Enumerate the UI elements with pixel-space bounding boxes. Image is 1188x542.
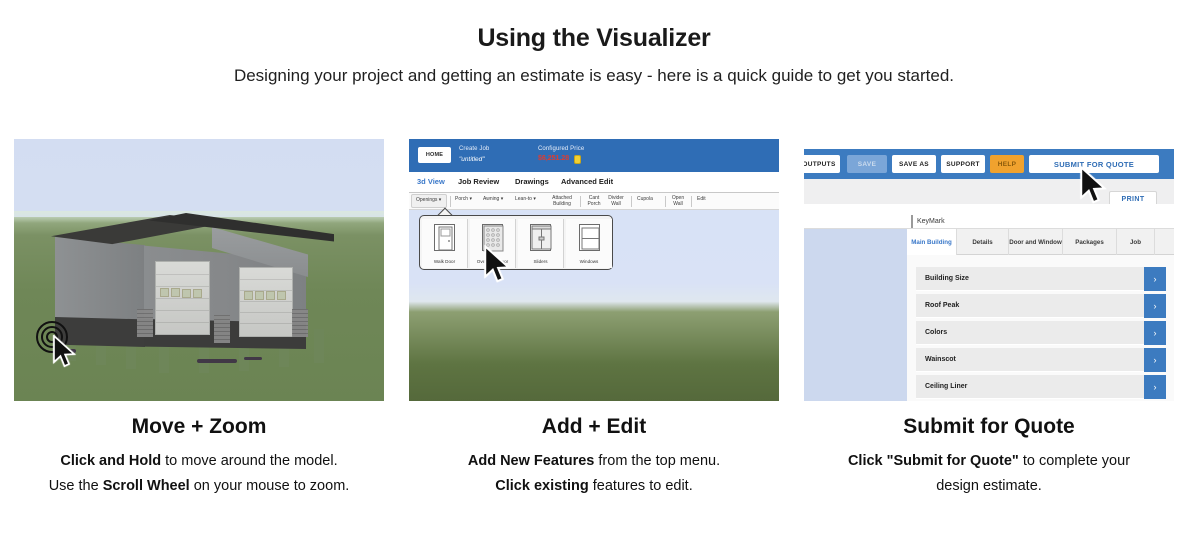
door-window [277, 291, 286, 300]
subtool-divider-wall[interactable]: Divider Wall [606, 196, 626, 207]
caption-bold: Add New Features [468, 453, 595, 469]
overhead-door [239, 267, 293, 337]
door-window [193, 289, 202, 298]
caption-rest: design estimate. [936, 478, 1042, 494]
tab-main-building[interactable]: Main Building [907, 229, 957, 255]
sliders-icon [530, 224, 551, 251]
overhead-door [155, 261, 210, 335]
guide-page: Using the Visualizer Designing your proj… [0, 0, 1188, 542]
submit-quote-preview-image: OUTPUTS SAVE SAVE AS SUPPORT HELP SUBMIT… [804, 139, 1174, 401]
caption-rest: to complete your [1019, 453, 1130, 469]
accordion-row-roof-peak[interactable]: Roof Peak › [916, 294, 1166, 318]
left-sidebar-panel [804, 229, 907, 401]
accordion-label: Roof Peak [925, 302, 959, 309]
app-top-bar: HOME Create Job "untitled" Configured Pr… [409, 139, 779, 172]
subtool-porch[interactable]: Porch ▾ [455, 197, 472, 203]
caption-rest: features to edit. [589, 478, 693, 494]
stone-column [137, 309, 153, 337]
caption-bold: Click existing [495, 478, 588, 494]
page-header: Using the Visualizer Designing your proj… [0, 0, 1188, 86]
tab-3d-view[interactable]: 3d View [417, 177, 445, 186]
accordion-label: Colors [925, 329, 947, 336]
card-caption: Click "Submit for Quote" to complete you… [804, 449, 1174, 499]
accordion-row-wainscot[interactable]: Wainscot › [916, 348, 1166, 372]
subtool-attached-building[interactable]: Attached Building [549, 196, 575, 207]
accordion-row-building-size[interactable]: Building Size › [916, 267, 1166, 291]
caption-bold: Click "Submit for Quote" [848, 453, 1019, 469]
stone-column [214, 315, 230, 343]
visualizer-toolbar-preview-image: HOME Create Job "untitled" Configured Pr… [409, 139, 779, 401]
visualizer-3d-preview-image [14, 139, 384, 401]
tab-details[interactable]: Details [957, 229, 1009, 255]
guide-card-move-zoom: Move + Zoom Click and Hold to move aroun… [14, 139, 384, 499]
accordion-label: Building Size [925, 275, 969, 282]
door-window [160, 288, 169, 297]
home-button[interactable]: HOME [418, 147, 451, 163]
card-title: Move + Zoom [14, 415, 384, 439]
caption-pre: Use the [49, 478, 103, 494]
mouse-cursor-icon [52, 335, 78, 369]
popup-item-windows[interactable]: Windows [566, 219, 612, 268]
guide-card-row: Move + Zoom Click and Hold to move aroun… [0, 139, 1188, 499]
page-title: Using the Visualizer [0, 24, 1188, 53]
caption-rest: from the top menu. [594, 453, 720, 469]
page-subtitle: Designing your project and getting an es… [0, 66, 1188, 86]
tab-drawings[interactable]: Drawings [515, 177, 549, 186]
subtool-label: Porch [455, 196, 468, 202]
mouse-cursor-icon [1079, 166, 1109, 206]
tab-door-and-window[interactable]: Door and Window [1009, 229, 1063, 255]
door-window [244, 291, 253, 300]
help-button[interactable]: HELP [990, 155, 1024, 173]
ground-debris [244, 357, 262, 360]
subtool-openings[interactable]: Openings ▾ [411, 194, 447, 208]
outputs-button[interactable]: OUTPUTS [804, 155, 840, 173]
create-job-value: "untitled" [459, 156, 485, 163]
card-caption: Add New Features from the top menu. Clic… [409, 449, 779, 499]
popup-label: Sliders [533, 259, 547, 264]
ground-debris [197, 359, 237, 363]
guide-card-submit-quote: OUTPUTS SAVE SAVE AS SUPPORT HELP SUBMIT… [804, 139, 1174, 499]
caption-line: Click "Submit for Quote" to complete you… [804, 449, 1174, 474]
save-as-button[interactable]: SAVE AS [892, 155, 936, 173]
config-tab-bar: Main Building Details Door and Window Pa… [907, 229, 1174, 255]
caption-line: design estimate. [804, 474, 1174, 499]
popup-label: Windows [580, 259, 599, 264]
accordion-row-ceiling-liner[interactable]: Ceiling Liner › [916, 375, 1166, 399]
app-sub-toolbar: Openings ▾ Porch ▾ Awning ▾ Lean-to ▾ At… [409, 193, 779, 210]
save-button[interactable]: SAVE [847, 155, 887, 173]
card-title: Submit for Quote [804, 415, 1174, 439]
card-title: Add + Edit [409, 415, 779, 439]
caption-line: Add New Features from the top menu. [409, 449, 779, 474]
subtool-awning[interactable]: Awning ▾ [483, 197, 503, 203]
popup-item-sliders[interactable]: Sliders [518, 219, 564, 268]
popup-item-walk-door[interactable]: Walk Door [422, 219, 468, 268]
quote-screen: OUTPUTS SAVE SAVE AS SUPPORT HELP SUBMIT… [804, 139, 1174, 401]
tab-packages[interactable]: Packages [1063, 229, 1117, 255]
configured-price-value: $6,251.28 [538, 155, 569, 162]
chevron-right-icon[interactable]: › [1144, 375, 1166, 399]
tab-job-review[interactable]: Job Review [458, 177, 499, 186]
caption-line: Use the Scroll Wheel on your mouse to zo… [14, 474, 384, 499]
chevron-right-icon[interactable]: › [1144, 294, 1166, 318]
chevron-right-icon[interactable]: › [1144, 321, 1166, 345]
tab-advanced-edit[interactable]: Advanced Edit [561, 177, 613, 186]
windows-icon [579, 224, 600, 251]
accordion-row-colors[interactable]: Colors › [916, 321, 1166, 345]
subtool-cant-porch[interactable]: Cant Porch [585, 196, 603, 207]
support-button[interactable]: SUPPORT [941, 155, 985, 173]
caption-rest: on your mouse to zoom. [190, 478, 350, 494]
app-tab-bar: 3d View Job Review Drawings Advanced Edi… [409, 172, 779, 193]
subtool-edit[interactable]: Edit [697, 197, 706, 203]
chevron-right-icon[interactable]: › [1144, 267, 1166, 291]
subtool-label: Awning [483, 196, 499, 202]
door-window [182, 289, 191, 298]
card-caption: Click and Hold to move around the model.… [14, 449, 384, 499]
caption-bold: Click and Hold [60, 453, 161, 469]
subtool-open-wall[interactable]: Open Wall [670, 196, 686, 207]
subtool-lean-to[interactable]: Lean-to ▾ [515, 197, 536, 203]
accordion-label: Wainscot [925, 356, 956, 363]
subtool-label: Lean-to [515, 196, 532, 202]
tab-job[interactable]: Job [1117, 229, 1155, 255]
door-window [171, 288, 180, 297]
guide-card-add-edit: HOME Create Job "untitled" Configured Pr… [409, 139, 779, 499]
popup-label: Walk Door [434, 259, 455, 264]
walk-door-icon [434, 224, 455, 251]
subtool-label: Openings [416, 197, 437, 203]
openings-popup-menu: Walk Door Overhead Door Sliders [419, 215, 613, 270]
subtool-cupola[interactable]: Cupola [637, 197, 653, 203]
pole-barn-model [49, 197, 349, 357]
door-window [255, 291, 264, 300]
brand-divider [911, 215, 913, 228]
create-job-label: Create Job [459, 146, 489, 152]
brand-bar [804, 204, 1174, 229]
door-window [266, 291, 275, 300]
chevron-right-icon[interactable]: › [1144, 348, 1166, 372]
accordion-label: Ceiling Liner [925, 383, 967, 390]
caption-rest: to move around the model. [161, 453, 338, 469]
configured-price-label: Configured Price [538, 146, 584, 152]
coin-icon [574, 155, 581, 164]
stone-column [292, 309, 308, 337]
caption-line: Click and Hold to move around the model. [14, 449, 384, 474]
caption-bold: Scroll Wheel [103, 478, 190, 494]
caption-line: Click existing features to edit. [409, 474, 779, 499]
brand-label: KeyMark [917, 218, 945, 225]
mouse-cursor-icon [483, 245, 513, 285]
